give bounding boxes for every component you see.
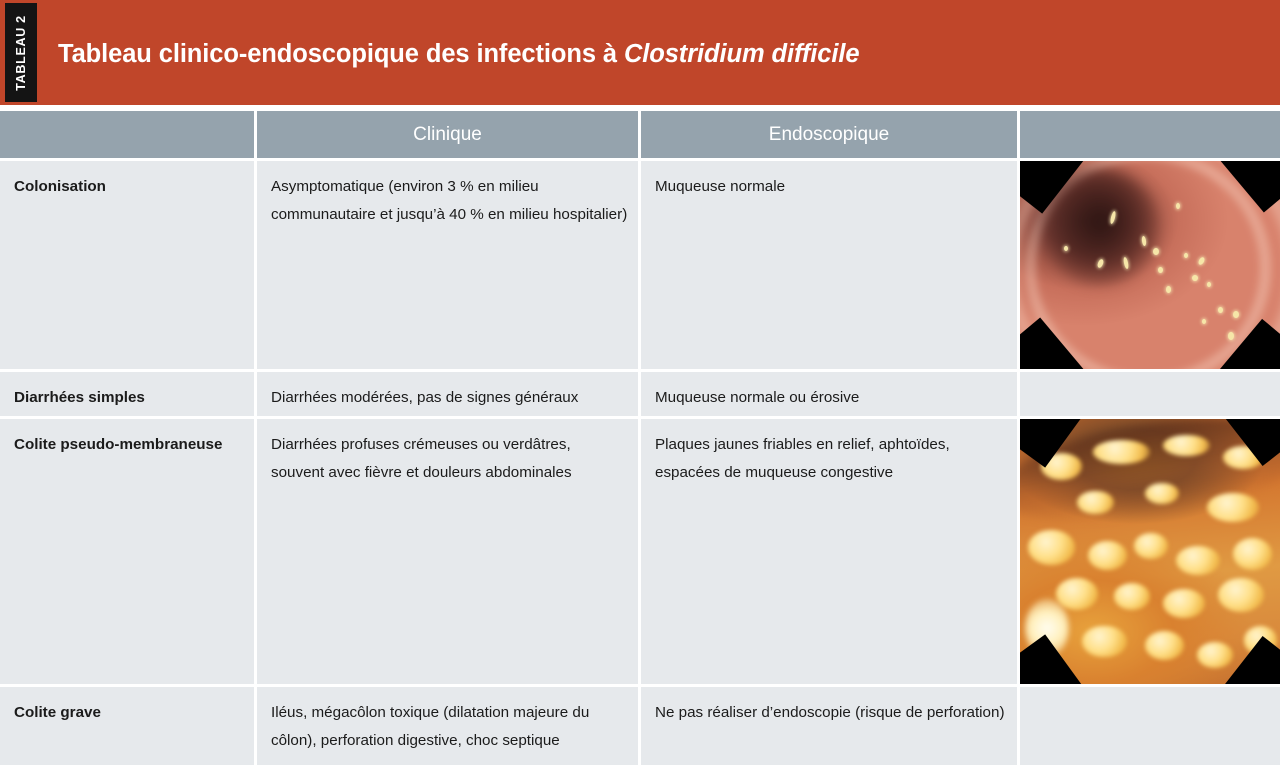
row-condition-label: Colite grave xyxy=(14,699,244,727)
table-row: Colonisation xyxy=(0,161,254,369)
tableau-marker-label: TABLEAU 2 xyxy=(14,15,28,91)
row-clinique-text: Diarrhées modérées, pas de signes généra… xyxy=(271,384,628,412)
table-row: Colite pseudo-membraneuse xyxy=(0,419,254,684)
title-banner: Tableau clinico-endoscopique des infecti… xyxy=(0,0,1280,105)
row-endoscopique-text: Ne pas réaliser d’endoscopie (risque de … xyxy=(655,699,1007,727)
row-condition-label: Colite pseudo-membraneuse xyxy=(14,431,244,459)
column-header-endoscopique-label: Endoscopique xyxy=(641,121,1017,149)
endoscopy-normal-mucosa-image xyxy=(1020,161,1280,369)
row-clinique-text: Asymptomatique (environ 3 % en milieu co… xyxy=(271,173,628,229)
column-header-image xyxy=(1020,111,1280,158)
row-clinique-text: Iléus, mégacôlon toxique (dilatation maj… xyxy=(271,699,628,755)
row-endoscopique-cell: Muqueuse normale ou érosive xyxy=(641,372,1017,416)
table-row: Diarrhées simples xyxy=(0,372,254,416)
data-table: Clinique Endoscopique Colonisation Asymp… xyxy=(0,105,1280,765)
row-condition-label: Colonisation xyxy=(14,173,244,201)
title-prefix: Tableau clinico-endoscopique des infecti… xyxy=(58,40,624,68)
row-endoscopique-text: Muqueuse normale ou érosive xyxy=(655,384,1007,412)
title-species: Clostridium difficile xyxy=(624,40,859,68)
row-clinique-cell: Asymptomatique (environ 3 % en milieu co… xyxy=(257,161,638,369)
column-header-endoscopique: Endoscopique xyxy=(641,111,1017,158)
row-clinique-cell: Diarrhées modérées, pas de signes généra… xyxy=(257,372,638,416)
row-endoscopique-text: Muqueuse normale xyxy=(655,173,1007,201)
page-title: Tableau clinico-endoscopique des infecti… xyxy=(58,40,859,69)
table-figure: Tableau clinico-endoscopique des infecti… xyxy=(0,0,1280,765)
row-endoscopique-cell: Ne pas réaliser d’endoscopie (risque de … xyxy=(641,687,1017,765)
column-header-clinique-label: Clinique xyxy=(257,121,638,149)
row-clinique-cell: Iléus, mégacôlon toxique (dilatation maj… xyxy=(257,687,638,765)
column-header-clinique: Clinique xyxy=(257,111,638,158)
row-image-cell xyxy=(1020,161,1280,369)
row-clinique-text: Diarrhées profuses crémeuses ou verdâtre… xyxy=(271,431,628,487)
tableau-marker: TABLEAU 2 xyxy=(5,3,37,102)
endoscopy-pseudomembranous-colitis-image xyxy=(1020,419,1280,684)
row-image-cell xyxy=(1020,687,1280,765)
column-header-condition xyxy=(0,111,254,158)
row-image-cell xyxy=(1020,372,1280,416)
row-endoscopique-text: Plaques jaunes friables en relief, aphto… xyxy=(655,431,1007,487)
row-clinique-cell: Diarrhées profuses crémeuses ou verdâtre… xyxy=(257,419,638,684)
row-condition-label: Diarrhées simples xyxy=(14,384,244,412)
row-endoscopique-cell: Plaques jaunes friables en relief, aphto… xyxy=(641,419,1017,684)
row-endoscopique-cell: Muqueuse normale xyxy=(641,161,1017,369)
row-image-cell xyxy=(1020,419,1280,684)
table-row: Colite grave xyxy=(0,687,254,765)
